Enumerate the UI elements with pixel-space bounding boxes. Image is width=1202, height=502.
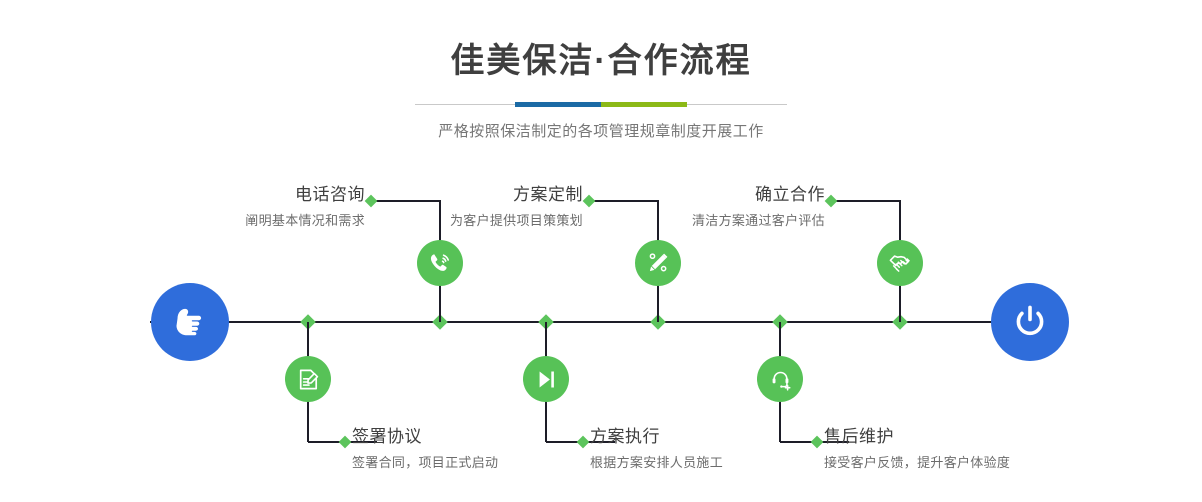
- step-icon-play-execute[interactable]: [523, 356, 569, 402]
- customer-service-icon: [768, 367, 793, 392]
- step-title-5: 确立合作: [575, 186, 825, 205]
- step-label-1: 电话咨询 阐明基本情况和需求: [110, 186, 365, 228]
- step-icon-phone-call[interactable]: [417, 240, 463, 286]
- label-marker-step-2: [339, 436, 352, 449]
- timeline-axis: [150, 321, 1050, 323]
- pointing-hand-icon: [168, 300, 212, 344]
- step-desc-1: 阐明基本情况和需求: [110, 214, 365, 228]
- process-flow-infographic: 佳美保洁·合作流程 严格按照保洁制定的各项管理规章制度开展工作: [0, 0, 1202, 502]
- step-desc-6: 接受客户反馈，提升客户体验度: [824, 456, 1124, 470]
- power-button-icon: [1008, 300, 1052, 344]
- step-icon-document-sign[interactable]: [285, 356, 331, 402]
- phone-call-icon: [427, 250, 453, 276]
- label-marker-step-5: [825, 195, 838, 208]
- step-label-6: 售后维护 接受客户反馈，提升客户体验度: [824, 428, 1124, 470]
- step-icon-pencil-design[interactable]: [635, 240, 681, 286]
- handshake-icon: [887, 250, 914, 277]
- play-execute-icon: [534, 367, 559, 392]
- step-label-3: 方案定制 为客户提供项目策策划: [330, 186, 583, 228]
- flow-start-node[interactable]: [151, 283, 229, 361]
- step-icon-handshake[interactable]: [877, 240, 923, 286]
- timeline-flow: 电话咨询 阐明基本情况和需求 方案定制 为客户提供项目策策划: [0, 0, 1202, 502]
- step-title-3: 方案定制: [330, 186, 583, 205]
- step-desc-5: 清洁方案通过客户评估: [575, 214, 825, 228]
- step-label-5: 确立合作 清洁方案通过客户评估: [575, 186, 825, 228]
- step-icon-customer-service[interactable]: [757, 356, 803, 402]
- document-sign-icon: [296, 367, 321, 392]
- pencil-design-icon: [645, 250, 671, 276]
- step-title-1: 电话咨询: [110, 186, 365, 205]
- step-title-6: 售后维护: [824, 428, 1124, 447]
- connector-horizontal-step-5: [831, 200, 900, 202]
- flow-end-node[interactable]: [991, 283, 1069, 361]
- step-desc-3: 为客户提供项目策策划: [330, 214, 583, 228]
